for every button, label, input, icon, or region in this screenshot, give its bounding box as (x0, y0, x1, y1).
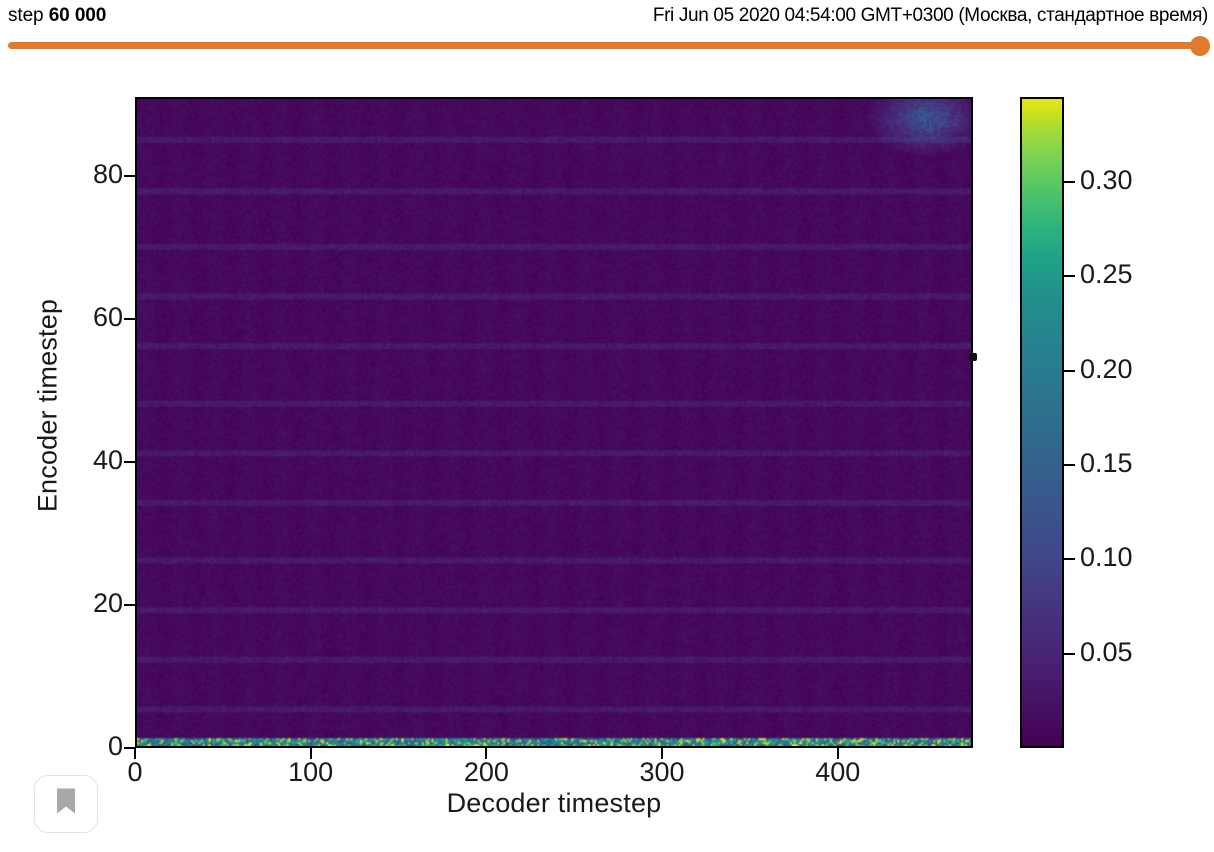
y-tick-label: 60 (33, 302, 123, 333)
attention-heatmap-figure: Encoder timestep 020406080 0100200300400… (0, 60, 1214, 852)
colorbar-tick-label: 0.10 (1080, 542, 1133, 573)
step-prefix-label: step (8, 5, 44, 26)
timestamp-label: Fri Jun 05 2020 04:54:00 GMT+0300 (Москв… (653, 2, 1208, 30)
colorbar-tick-label: 0.25 (1080, 259, 1133, 290)
colorbar-tick-mark (1064, 464, 1075, 466)
bookmark-icon (54, 788, 78, 821)
y-tick-label: 40 (33, 445, 123, 476)
x-tick-label: 200 (426, 757, 546, 788)
colorbar-tick-mark (1064, 558, 1075, 560)
colorbar-tick-mark (1064, 653, 1075, 655)
slider-thumb[interactable] (1190, 36, 1210, 56)
header-bar: step 60 000 Fri Jun 05 2020 04:54:00 GMT… (0, 0, 1214, 34)
x-tick-label: 100 (251, 757, 371, 788)
bookmark-button[interactable] (34, 775, 98, 833)
colorbar-tick-label: 0.20 (1080, 354, 1133, 385)
colorbar-tick-label: 0.05 (1080, 637, 1133, 668)
colorbar-tick-mark (1064, 275, 1075, 277)
x-axis-label: Decoder timestep (135, 788, 973, 819)
y-tick-label: 20 (33, 588, 123, 619)
cursor-marker-icon (969, 353, 977, 361)
colorbar-tick-mark (1064, 181, 1075, 183)
x-tick-label: 400 (778, 757, 898, 788)
y-tick-mark (124, 175, 135, 177)
y-tick-mark (124, 604, 135, 606)
colorbar (1020, 97, 1064, 748)
colorbar-tick-label: 0.30 (1080, 165, 1133, 196)
colorbar-tick-label: 0.15 (1080, 448, 1133, 479)
heatmap-plot-area[interactable] (135, 97, 973, 748)
colorbar-gradient (1022, 99, 1062, 746)
x-tick-label: 300 (602, 757, 722, 788)
y-tick-label: 80 (33, 159, 123, 190)
slider-track[interactable] (8, 42, 1206, 49)
y-tick-mark (124, 318, 135, 320)
step-slider[interactable] (8, 36, 1208, 58)
step-value-label: 60 000 (49, 5, 107, 26)
step-readout: step 60 000 (8, 2, 106, 30)
colorbar-tick-mark (1064, 370, 1075, 372)
y-tick-mark (124, 461, 135, 463)
heatmap-canvas[interactable] (137, 99, 971, 746)
